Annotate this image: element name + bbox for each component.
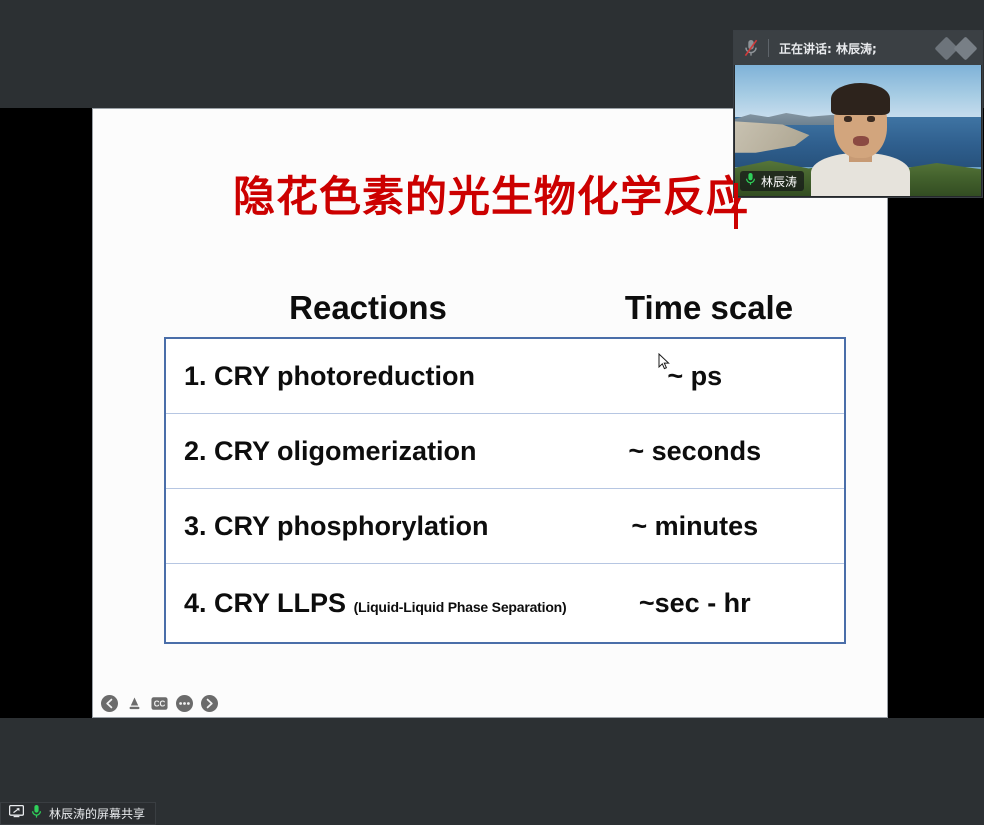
active-speaker-label: 正在讲话: 林辰涛; (779, 40, 877, 57)
reactions-table: 1. CRY photoreduction ~ ps 2. CRY oligom… (164, 337, 846, 644)
pen-icon[interactable] (126, 695, 143, 712)
arrow-right-icon[interactable] (201, 695, 218, 712)
cell-time-scale-text: ~ ps (667, 361, 722, 391)
cell-reaction: 1. CRY photoreduction (166, 361, 572, 392)
svg-text:CC: CC (154, 700, 166, 709)
cell-time-scale: ~ seconds (572, 436, 844, 467)
shared-screen-slide: 隐花色素的光生物化学反应 Reactions Time scale 1. CRY… (92, 108, 888, 718)
table-column-headers: Reactions Time scale (164, 289, 846, 327)
cell-time-scale: ~ ps (572, 361, 844, 392)
active-speaker-indicator (734, 183, 738, 229)
screen-share-icon (9, 805, 24, 823)
table-row: 2. CRY oligomerization ~ seconds (166, 414, 844, 489)
microphone-active-icon (745, 172, 756, 191)
zoom-chrome-right (888, 108, 984, 718)
table-row: 1. CRY photoreduction ~ ps (166, 339, 844, 414)
participant-name-text: 林辰涛 (761, 173, 797, 190)
screen: 隐花色素的光生物化学反应 Reactions Time scale 1. CRY… (0, 0, 984, 825)
column-header-reactions: Reactions (164, 289, 572, 327)
video-tile-header: 正在讲话: 林辰涛; (734, 31, 982, 65)
taskbar-item-label: 林辰涛的屏幕共享 (49, 805, 145, 822)
arrow-left-icon[interactable] (101, 695, 118, 712)
taskbar-screen-share-item[interactable]: 林辰涛的屏幕共享 (0, 802, 156, 825)
cc-icon[interactable]: CC (151, 695, 168, 712)
microphone-muted-icon[interactable] (734, 38, 768, 58)
slide-presenter-controls: CC (97, 693, 222, 714)
cell-reaction: 2. CRY oligomerization (166, 436, 572, 467)
participant-figure (828, 83, 892, 196)
mouse-cursor-icon (658, 353, 670, 371)
participant-name-badge: 林辰涛 (740, 171, 804, 191)
table-row: 3. CRY phosphorylation ~ minutes (166, 489, 844, 564)
cell-reaction: 4. CRY LLPS (Liquid-Liquid Phase Separat… (166, 588, 572, 619)
cell-reaction-main: 4. CRY LLPS (184, 588, 346, 618)
ellipsis-icon[interactable] (176, 695, 193, 712)
cell-time-scale: ~sec - hr (572, 588, 844, 619)
cell-time-scale: ~ minutes (572, 511, 844, 542)
zoom-chrome-left (0, 108, 92, 718)
cell-reaction: 3. CRY phosphorylation (166, 511, 572, 542)
participant-video-tile[interactable]: 正在讲话: 林辰涛; (733, 30, 983, 198)
table-row: 4. CRY LLPS (Liquid-Liquid Phase Separat… (166, 564, 844, 642)
microphone-active-icon (31, 804, 42, 824)
column-header-time-scale: Time scale (572, 289, 846, 327)
cell-reaction-note: (Liquid-Liquid Phase Separation) (354, 599, 567, 615)
collapse-chevrons-icon[interactable] (938, 40, 974, 57)
header-divider (768, 39, 769, 57)
